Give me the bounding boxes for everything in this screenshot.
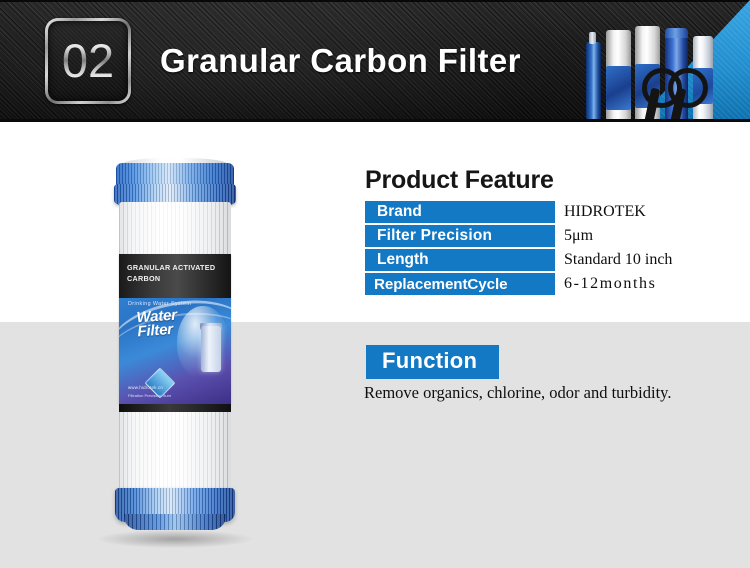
spec-key-replacement-cycle: ReplacementCycle	[365, 273, 555, 295]
spec-value-filter-precision: 5μm	[564, 225, 593, 247]
spec-value-brand: HIDROTEK	[564, 201, 646, 223]
function-description: Remove organics, chlorine, odor and turb…	[364, 382, 694, 404]
page-header: 02 Granular Carbon Filter	[0, 0, 750, 122]
cartridge-lower-dark-band	[119, 404, 231, 412]
inline-filter-blue-cap	[665, 28, 688, 38]
spec-row: Brand HIDROTEK	[365, 201, 741, 223]
spec-table: Brand HIDROTEK Filter Precision 5μm Leng…	[365, 201, 741, 297]
spec-row: ReplacementCycle 6-12months	[365, 273, 741, 295]
spec-value-replacement-cycle: 6-12months	[564, 273, 656, 295]
cartridge-bottom-foot	[124, 514, 226, 530]
cartridge-label-subtitle: Drinking Water System	[128, 301, 191, 307]
cartridge-label: GRANULAR ACTIVATED CARBON Drinking Water…	[119, 254, 231, 404]
cartridge-label-precision: Filtration Precision: 5um	[128, 393, 220, 399]
product-photo: GRANULAR ACTIVATED CARBON Drinking Water…	[108, 158, 242, 548]
cartridge-1-label	[606, 66, 631, 110]
function-badge: Function	[366, 345, 499, 379]
header-top-rule	[0, 0, 750, 2]
product-spec-page: 02 Granular Carbon Filter GRANULAR ACTIV…	[0, 0, 750, 568]
step-number: 02	[62, 37, 114, 86]
step-number-badge-inner: 02	[48, 21, 128, 101]
cartridge-label-dark-band: GRANULAR ACTIVATED CARBON	[119, 254, 231, 298]
spec-value-length: Standard 10 inch	[564, 249, 672, 271]
spec-key-length: Length	[365, 249, 555, 271]
water-filter-product-cluster	[580, 22, 740, 122]
ro-membrane-icon	[586, 42, 601, 120]
spec-key-filter-precision: Filter Precision	[365, 225, 555, 247]
feature-heading: Product Feature	[365, 166, 554, 195]
page-title: Granular Carbon Filter	[160, 42, 521, 80]
spec-row: Length Standard 10 inch	[365, 249, 741, 271]
cartridge-label-url: www.hidrotek.cn	[128, 385, 163, 390]
spec-key-brand: Brand	[365, 201, 555, 223]
cartridge-label-title: GRANULAR ACTIVATED CARBON	[127, 263, 225, 285]
cartridge-top-band	[114, 184, 236, 204]
label-inset-photo-body	[201, 326, 221, 372]
step-number-badge: 02	[45, 18, 131, 104]
cartridge-label-brand: Water Filter	[136, 309, 178, 340]
ro-membrane-stem	[589, 32, 596, 44]
cartridge-label-brand-line2: Filter	[137, 323, 178, 340]
spec-row: Filter Precision 5μm	[365, 225, 741, 247]
product-shadow	[98, 530, 252, 548]
